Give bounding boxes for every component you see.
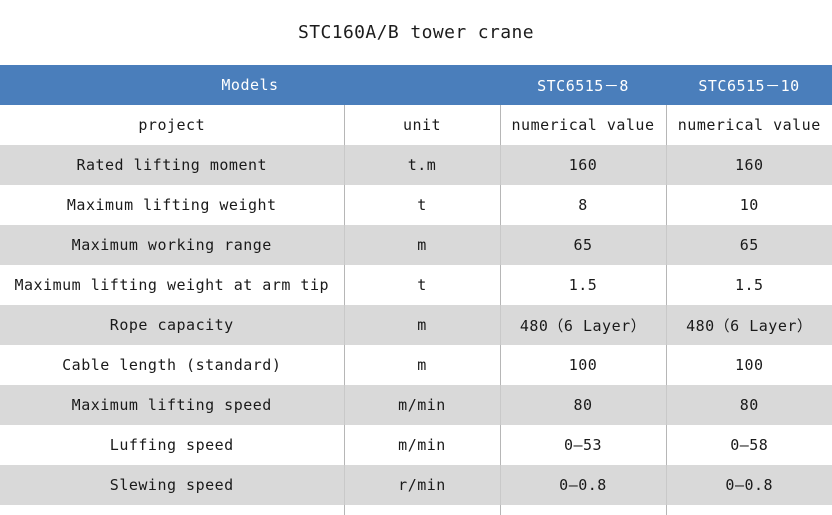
row-label: Slewing speed (0, 465, 344, 505)
row-unit: m/min (344, 425, 500, 465)
row-unit (344, 505, 500, 515)
row-value-2 (666, 505, 832, 515)
row-unit: r/min (344, 465, 500, 505)
row-label: Luffing speed (0, 425, 344, 465)
row-value-2: 0—0.8 (666, 465, 832, 505)
row-label: Maximum working range (0, 225, 344, 265)
row-value-1: 0—53 (500, 425, 666, 465)
row-label: Rope capacity (0, 305, 344, 345)
table-row: Maximum lifting weight t 8 10 (0, 185, 832, 225)
sub-header-value-1: numerical value (500, 105, 666, 145)
row-value-1: 100 (500, 345, 666, 385)
row-unit: m (344, 225, 500, 265)
row-value-2: 480（6 Layer） (666, 305, 832, 345)
models-header-row: Models STC6515－8 STC6515－10 (0, 65, 832, 105)
table-row: Rope capacity m 480（6 Layer） 480（6 Layer… (0, 305, 832, 345)
row-label: Maximum lifting weight at arm tip (0, 265, 344, 305)
table-row: Rated lifting moment t.m 160 160 (0, 145, 832, 185)
table-row-clipped (0, 505, 832, 515)
row-label: Maximum lifting weight (0, 185, 344, 225)
table-row: Luffing speed m/min 0—53 0—58 (0, 425, 832, 465)
row-label: Rated lifting moment (0, 145, 344, 185)
row-value-2: 160 (666, 145, 832, 185)
row-value-2: 65 (666, 225, 832, 265)
row-label (0, 505, 344, 515)
row-value-1 (500, 505, 666, 515)
table-row: Maximum lifting weight at arm tip t 1.5 … (0, 265, 832, 305)
sub-header-value-2: numerical value (666, 105, 832, 145)
row-unit: t.m (344, 145, 500, 185)
row-unit: t (344, 265, 500, 305)
row-value-1: 65 (500, 225, 666, 265)
row-label: Cable length (standard) (0, 345, 344, 385)
sub-header-unit: unit (344, 105, 500, 145)
row-value-1: 480（6 Layer） (500, 305, 666, 345)
row-value-2: 80 (666, 385, 832, 425)
row-value-2: 100 (666, 345, 832, 385)
table-row: Maximum working range m 65 65 (0, 225, 832, 265)
row-value-1: 80 (500, 385, 666, 425)
row-unit: m (344, 345, 500, 385)
row-value-1: 8 (500, 185, 666, 225)
table-row: Cable length (standard) m 100 100 (0, 345, 832, 385)
row-value-1: 0—0.8 (500, 465, 666, 505)
table-row: Slewing speed r/min 0—0.8 0—0.8 (0, 465, 832, 505)
sub-header-project: project (0, 105, 344, 145)
row-value-2: 1.5 (666, 265, 832, 305)
row-value-2: 10 (666, 185, 832, 225)
row-unit: m/min (344, 385, 500, 425)
models-header-label: Models (0, 65, 500, 105)
row-value-1: 160 (500, 145, 666, 185)
page-title: STC160A/B tower crane (0, 0, 832, 65)
row-value-1: 1.5 (500, 265, 666, 305)
sub-header-row: project unit numerical value numerical v… (0, 105, 832, 145)
table-row: Maximum lifting speed m/min 80 80 (0, 385, 832, 425)
row-value-2: 0—58 (666, 425, 832, 465)
model-column-header-1: STC6515－8 (500, 65, 666, 105)
specification-table: Models STC6515－8 STC6515－10 project unit… (0, 65, 832, 515)
table-body: Rated lifting moment t.m 160 160 Maximum… (0, 145, 832, 515)
row-label: Maximum lifting speed (0, 385, 344, 425)
row-unit: t (344, 185, 500, 225)
table-head: Models STC6515－8 STC6515－10 project unit… (0, 65, 832, 145)
row-unit: m (344, 305, 500, 345)
model-column-header-2: STC6515－10 (666, 65, 832, 105)
